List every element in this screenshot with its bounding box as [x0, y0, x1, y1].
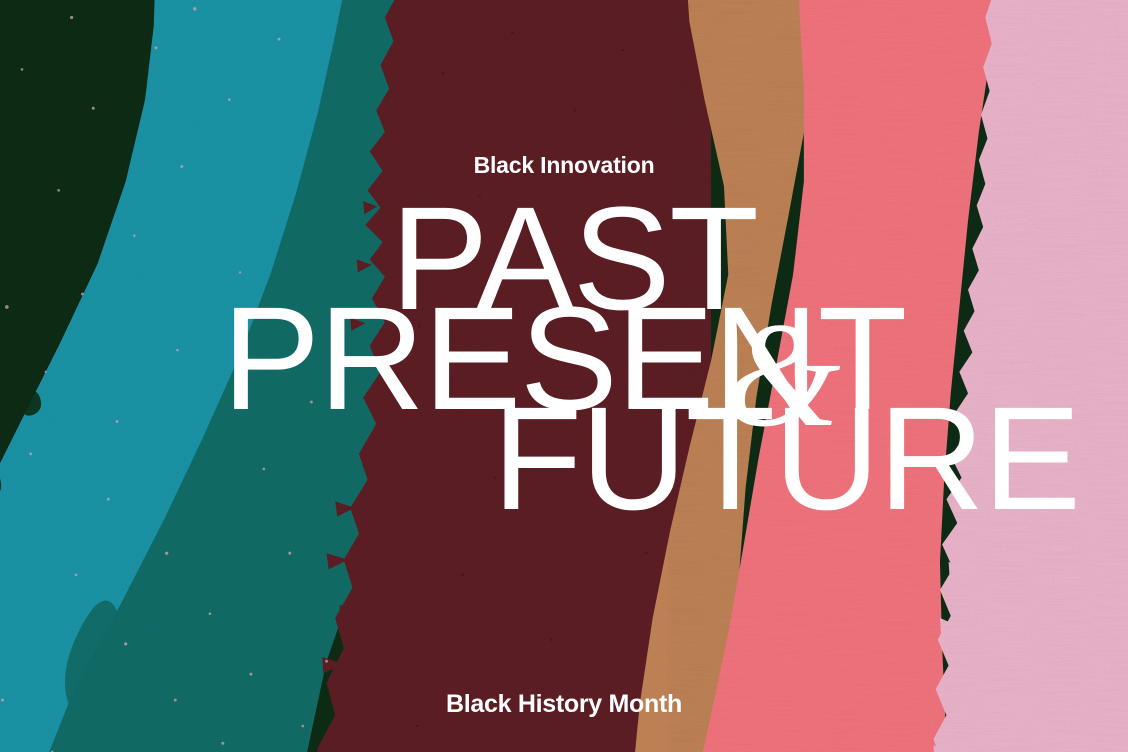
footer-text: Black History Month	[0, 690, 1128, 719]
poster-canvas: Black Innovation PAST PRESENT & FUTURE B…	[0, 0, 1128, 752]
poster-content: Black Innovation PAST PRESENT & FUTURE B…	[0, 0, 1128, 752]
eyebrow-text: Black Innovation	[0, 152, 1128, 179]
headline-line-future: FUTURE	[0, 396, 1128, 522]
